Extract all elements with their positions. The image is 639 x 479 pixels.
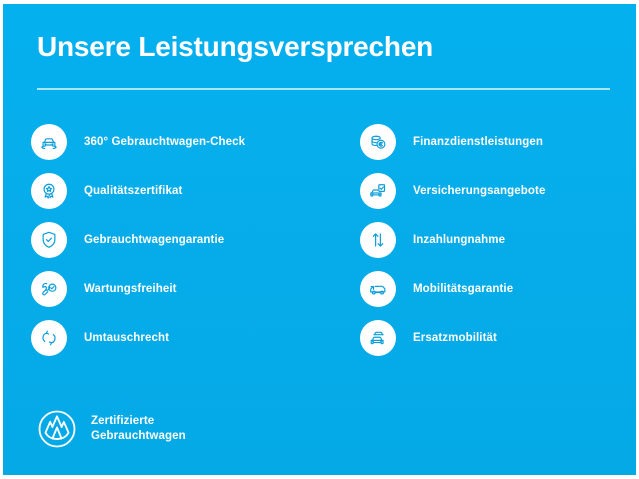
car-360-check-icon xyxy=(31,124,67,160)
brand-line-1: Zertifizierte xyxy=(91,414,186,429)
award-rosette-icon xyxy=(31,173,67,209)
volkswagen-logo xyxy=(36,408,78,450)
benefit-label: Umtauschrecht xyxy=(84,331,169,345)
tow-van-icon xyxy=(360,271,396,307)
benefit-label: Versicherungsangebote xyxy=(413,184,545,198)
benefit-item-quality-certificate[interactable]: Qualitätszertifikat xyxy=(31,173,331,209)
shield-check-icon xyxy=(31,222,67,258)
benefit-item-financial-services[interactable]: Finanzdienstleistungen xyxy=(360,124,636,160)
benefit-item-right-of-exchange[interactable]: Umtauschrecht xyxy=(31,320,331,356)
benefit-item-used-car-warranty[interactable]: Gebrauchtwagengarantie xyxy=(31,222,331,258)
screenshot-root: Unsere Leistungsversprechen xyxy=(0,0,639,479)
wrench-check-icon xyxy=(31,271,67,307)
benefits-columns: 360° Gebrauchtwagen-Check Qualitätszerti… xyxy=(3,124,636,374)
benefit-item-maintenance-free[interactable]: Wartungsfreiheit xyxy=(31,271,331,307)
benefit-item-trade-in[interactable]: Inzahlungnahme xyxy=(360,222,636,258)
benefit-item-mobility-guarantee[interactable]: Mobilitätsgarantie xyxy=(360,271,636,307)
exchange-arrows-icon xyxy=(31,320,67,356)
car-document-check-icon xyxy=(360,173,396,209)
benefits-column-right: Finanzdienstleistungen Versicherungsange… xyxy=(360,124,636,369)
page-title: Unsere Leistungsversprechen xyxy=(37,30,607,64)
benefit-label: Finanzdienstleistungen xyxy=(413,135,543,149)
brand-lockup: Zertifizierte Gebrauchtwagen xyxy=(36,408,186,450)
benefit-label: Wartungsfreiheit xyxy=(84,282,177,296)
arrows-up-down-icon xyxy=(360,222,396,258)
benefit-label: Mobilitätsgarantie xyxy=(413,282,513,296)
brand-line-2: Gebrauchtwagen xyxy=(91,429,186,444)
benefit-label: Inzahlungnahme xyxy=(413,233,505,247)
benefit-item-360-check[interactable]: 360° Gebrauchtwagen-Check xyxy=(31,124,331,160)
benefit-label: Ersatzmobilität xyxy=(413,331,497,345)
benefits-column-left: 360° Gebrauchtwagen-Check Qualitätszerti… xyxy=(31,124,331,369)
coins-euro-icon xyxy=(360,124,396,160)
benefit-item-replacement-mobility[interactable]: Ersatzmobilität xyxy=(360,320,636,356)
benefits-panel: Unsere Leistungsversprechen xyxy=(3,4,636,475)
brand-text: Zertifizierte Gebrauchtwagen xyxy=(91,414,186,444)
header: Unsere Leistungsversprechen xyxy=(37,30,607,64)
benefit-item-insurance-offers[interactable]: Versicherungsangebote xyxy=(360,173,636,209)
benefit-label: 360° Gebrauchtwagen-Check xyxy=(84,135,245,149)
header-divider xyxy=(37,88,610,90)
two-cars-icon xyxy=(360,320,396,356)
benefit-label: Qualitätszertifikat xyxy=(84,184,182,198)
benefit-label: Gebrauchtwagengarantie xyxy=(84,233,224,247)
